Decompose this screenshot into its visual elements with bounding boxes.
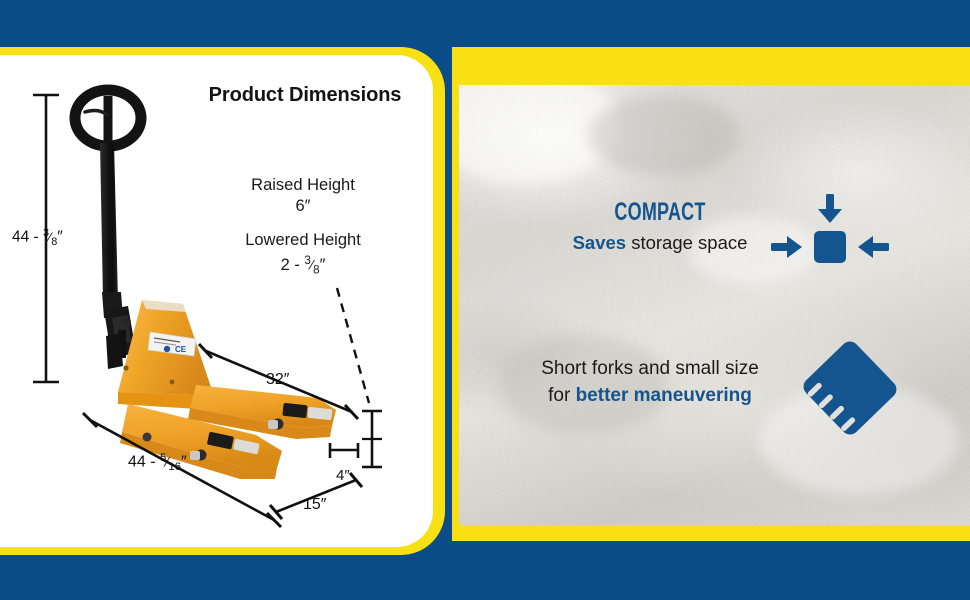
- spec-lowered-height-value: 2 - 3⁄8″: [205, 251, 401, 281]
- dimension-overall-height-whole: 44 -: [12, 229, 43, 246]
- spec-lowered-height-suffix: ″: [320, 256, 326, 274]
- infographic-canvas: COMPACT Saves storage space Short for: [0, 0, 970, 600]
- feature-maneuvering-line2: for better maneuvering: [500, 382, 800, 409]
- feature-compact-subtext: Saves storage space: [530, 231, 790, 255]
- feature-compact: COMPACT Saves storage space: [530, 198, 790, 255]
- page-title: Product Dimensions: [180, 84, 430, 107]
- feature-compact-subtext-rest: storage space: [626, 232, 747, 253]
- dimension-overall-length-denominator: 16: [169, 461, 181, 473]
- concrete-blotch: [589, 95, 739, 175]
- dimension-overall-length-suffix: ″: [181, 454, 187, 471]
- concrete-photo-panel: [459, 85, 970, 525]
- compress-arrows-icon: [768, 192, 892, 288]
- dimension-overall-height-fraction: 3⁄8: [43, 227, 57, 248]
- spec-raised-height-value: 6″: [205, 196, 401, 217]
- spec-list: Raised Height 6″ Lowered Height 2 - 3⁄8″: [205, 175, 401, 281]
- dimension-overall-length-numerator: 5: [160, 452, 166, 464]
- dimension-label-fork-width: 15″: [303, 496, 326, 514]
- spec-lowered-height-label: Lowered Height: [205, 230, 401, 251]
- feature-compact-subtext-bold: Saves: [573, 232, 627, 253]
- ruler-icon: [800, 338, 900, 438]
- dimension-overall-height-numerator: 3: [43, 227, 49, 239]
- dimension-overall-length-fraction: 5⁄16: [160, 452, 181, 473]
- spec-raised-height-label: Raised Height: [205, 175, 401, 196]
- dimension-label-fork-length: 32″: [266, 371, 289, 389]
- dimension-label-fork-height: 4″: [336, 467, 350, 484]
- feature-maneuvering-line1: Short forks and small size: [500, 355, 800, 382]
- spec-lowered-height-fraction: 3⁄8: [304, 251, 319, 281]
- feature-maneuvering-line2-bold: better maneuvering: [576, 385, 752, 406]
- spec-lowered-height-whole: 2 -: [281, 256, 305, 274]
- dimension-label-overall-length: 44 - 5⁄16″: [128, 452, 187, 473]
- dimension-overall-height-suffix: ″: [57, 229, 63, 246]
- spec-spacer: [205, 217, 401, 230]
- feature-maneuvering-line2-prefix: for: [548, 385, 575, 406]
- feature-compact-heading: COMPACT: [566, 198, 753, 226]
- dimension-label-overall-height: 44 - 3⁄8″: [12, 227, 63, 248]
- spec-lowered-height-numerator: 3: [304, 255, 310, 267]
- feature-maneuvering: Short forks and small size for better ma…: [500, 355, 800, 409]
- left-card-white-surface: [0, 55, 433, 547]
- dimension-overall-length-whole: 44 -: [128, 454, 160, 471]
